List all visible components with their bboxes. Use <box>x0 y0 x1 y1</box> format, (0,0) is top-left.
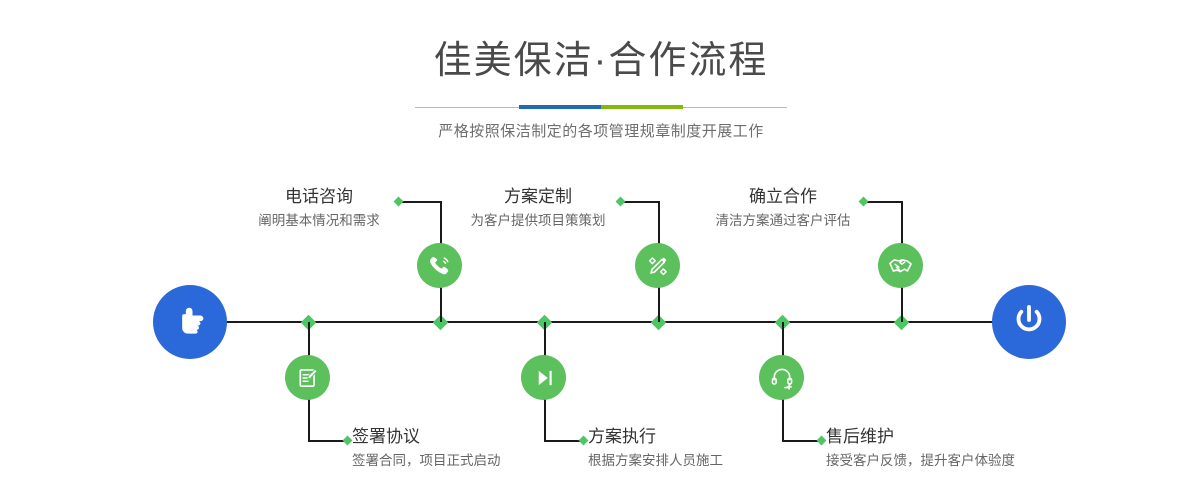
step-title-1: 电话咨询 <box>243 188 395 207</box>
divider-green-segment <box>601 105 683 109</box>
step-label-3: 方案定制 为客户提供项目策策划 <box>460 188 616 229</box>
flow-diagram-canvas: 佳美保洁·合作流程 严格按照保洁制定的各项管理规章制度开展工作 <box>0 0 1202 502</box>
pencil-ruler-icon <box>645 253 671 279</box>
step-label-5: 确立合作 清洁方案通过客户评估 <box>705 188 861 229</box>
header: 佳美保洁·合作流程 严格按照保洁制定的各项管理规章制度开展工作 <box>0 0 1202 141</box>
timeline-end-node[interactable] <box>992 285 1066 359</box>
document-edit-icon <box>295 365 321 391</box>
page-subtitle: 严格按照保洁制定的各项管理规章制度开展工作 <box>0 120 1202 141</box>
timeline-start-node[interactable] <box>153 285 227 359</box>
label-marker-4 <box>579 436 589 446</box>
step-label-2: 签署协议 签署合同，项目正式启动 <box>352 428 501 469</box>
label-marker-1 <box>394 197 404 207</box>
label-marker-3 <box>616 197 626 207</box>
step-icon-3[interactable] <box>635 243 680 288</box>
step-title-5: 确立合作 <box>705 188 861 207</box>
step-label-1: 电话咨询 阐明基本情况和需求 <box>243 188 395 229</box>
step-icon-2[interactable] <box>285 355 330 400</box>
page-title: 佳美保洁·合作流程 <box>0 42 1202 80</box>
step-desc-5: 清洁方案通过客户评估 <box>705 214 861 229</box>
label-marker-6 <box>817 436 827 446</box>
step-title-6: 售后维护 <box>826 428 1015 447</box>
step-icon-5[interactable] <box>878 243 923 288</box>
step-title-3: 方案定制 <box>460 188 616 207</box>
step-icon-4[interactable] <box>521 355 566 400</box>
play-execute-icon <box>532 366 556 390</box>
step-label-4: 方案执行 根据方案安排人员施工 <box>588 428 723 469</box>
pointing-hand-icon <box>170 300 210 345</box>
step-label-6: 售后维护 接受客户反馈，提升客户体验度 <box>826 428 1015 469</box>
power-icon <box>1008 299 1050 346</box>
headset-support-icon <box>769 365 795 391</box>
connector-horizontal-5 <box>863 201 903 203</box>
handshake-icon <box>887 252 914 279</box>
step-desc-3: 为客户提供项目策策划 <box>460 214 616 229</box>
connector-horizontal-3 <box>620 201 660 203</box>
step-desc-2: 签署合同，项目正式启动 <box>352 454 501 469</box>
step-desc-6: 接受客户反馈，提升客户体验度 <box>826 454 1015 469</box>
connector-horizontal-1 <box>398 201 442 203</box>
phone-call-icon <box>427 253 453 279</box>
step-desc-4: 根据方案安排人员施工 <box>588 454 723 469</box>
label-marker-2 <box>343 436 353 446</box>
step-title-4: 方案执行 <box>588 428 723 447</box>
step-desc-1: 阐明基本情况和需求 <box>243 214 395 229</box>
divider-blue-segment <box>519 105 601 109</box>
title-divider <box>415 105 787 109</box>
step-icon-1[interactable] <box>417 243 462 288</box>
step-icon-6[interactable] <box>759 355 804 400</box>
step-title-2: 签署协议 <box>352 428 501 447</box>
